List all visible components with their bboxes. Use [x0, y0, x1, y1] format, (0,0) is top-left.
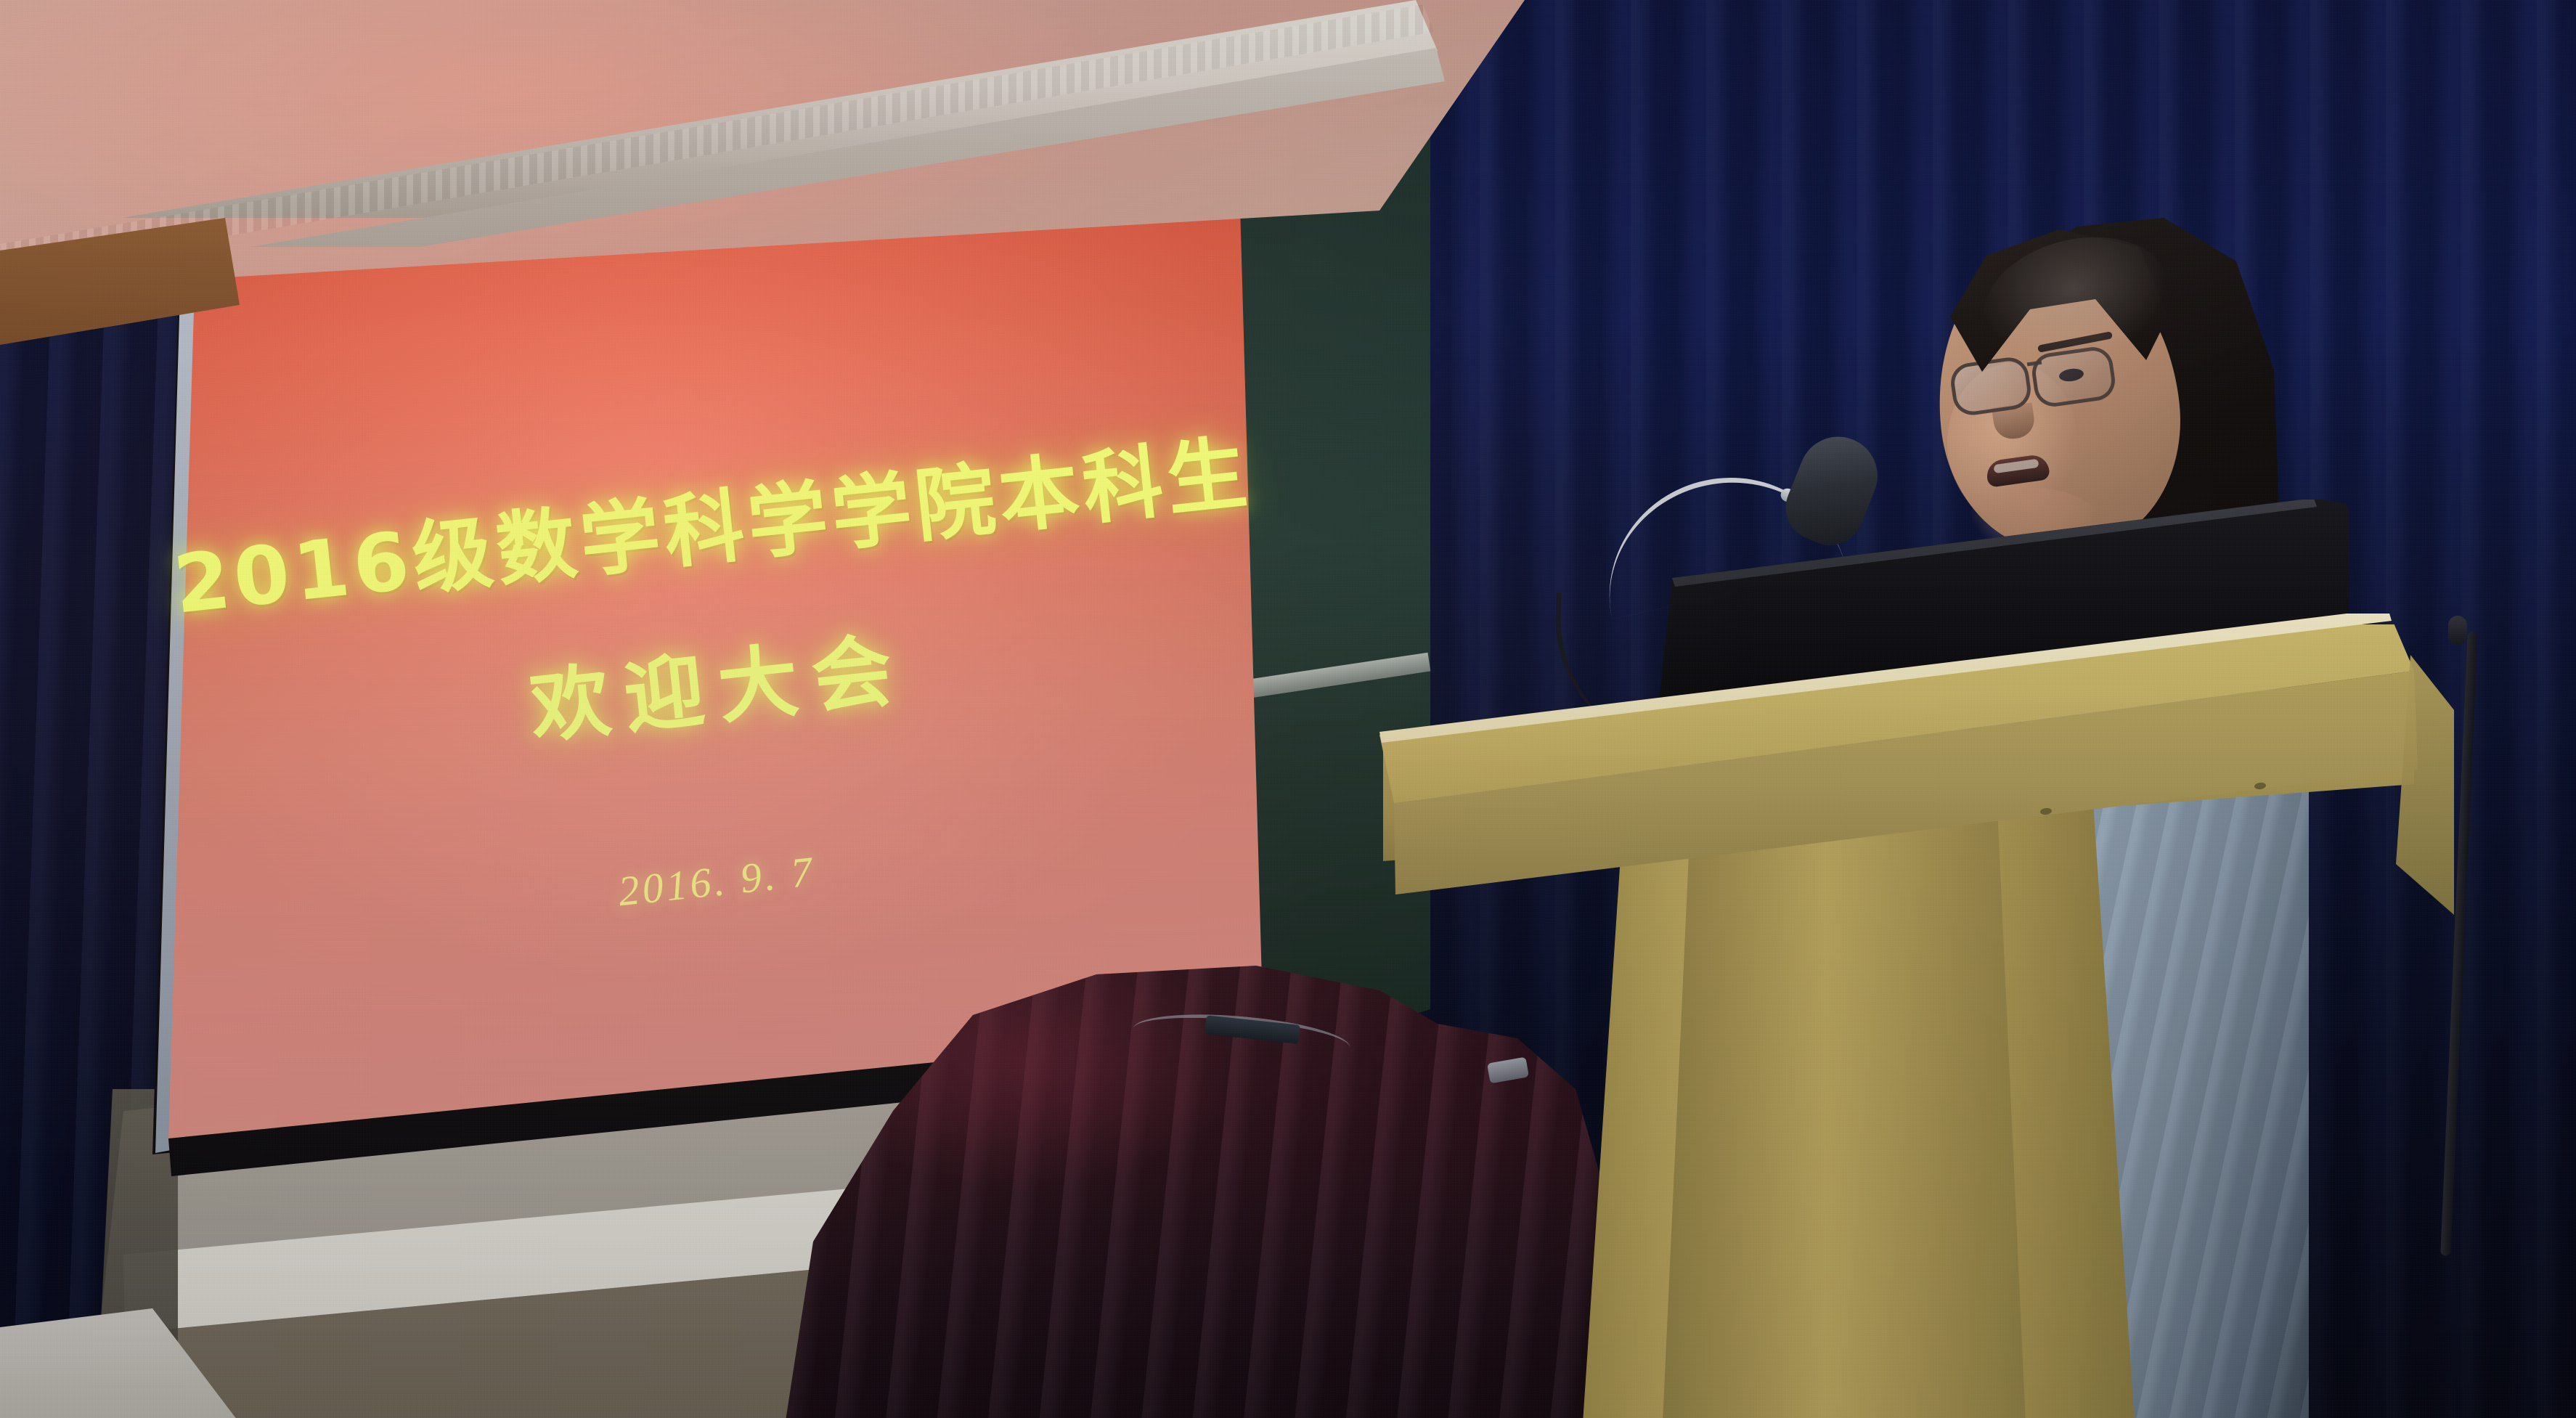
- slide-date: 2016. 9. 7: [208, 804, 1224, 958]
- podium-column-inset: [1663, 791, 2026, 1418]
- photo-scene: 2016级数学科学学院本科生 欢迎大会 2016. 9. 7: [0, 0, 2576, 1418]
- mic-stand-rod-cap: [2448, 616, 2467, 645]
